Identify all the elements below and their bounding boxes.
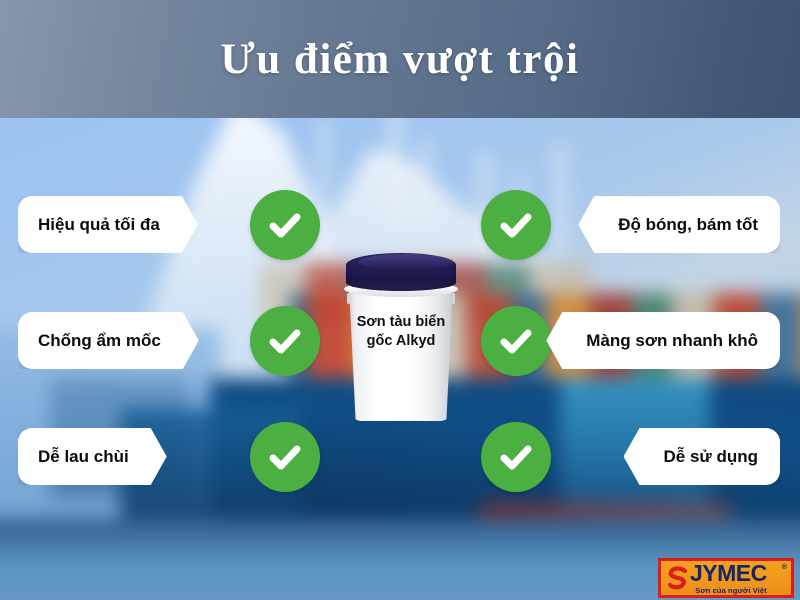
check-icon bbox=[481, 306, 551, 376]
feature-row: Chống ẩm mốc Màng sơn nhanh khô bbox=[0, 306, 800, 376]
check-icon bbox=[250, 190, 320, 260]
feature-pill-left-3[interactable]: Dễ lau chùi bbox=[18, 428, 167, 485]
feature-label: Dễ lau chùi bbox=[38, 447, 129, 467]
feature-label: Màng sơn nhanh khô bbox=[586, 331, 758, 351]
logo-brand: JYMEC bbox=[690, 562, 767, 585]
logo-tagline: Sơn của người Việt bbox=[690, 587, 767, 595]
feature-pill-right-1[interactable]: Độ bóng, bám tốt bbox=[578, 196, 780, 253]
jymec-swirl-icon bbox=[667, 566, 689, 590]
feature-pill-left-1[interactable]: Hiệu quả tối đa bbox=[18, 196, 198, 253]
header-banner: Ưu điểm vượt trội bbox=[0, 0, 800, 118]
feature-label: Độ bóng, bám tốt bbox=[618, 215, 758, 235]
check-icon bbox=[481, 422, 551, 492]
feature-pill-right-3[interactable]: Dễ sử dụng bbox=[624, 428, 780, 485]
registered-mark-icon: ® bbox=[782, 564, 787, 571]
logo-text: JYMEC Sơn của người Việt bbox=[690, 562, 767, 595]
background-water-shadow bbox=[0, 518, 800, 563]
feature-pill-right-2[interactable]: Màng sơn nhanh khô bbox=[546, 312, 780, 369]
feature-row: Hiệu quả tối đa Độ bóng, bám tốt bbox=[0, 190, 800, 260]
check-icon bbox=[250, 306, 320, 376]
feature-label: Dễ sử dụng bbox=[664, 447, 758, 467]
feature-pill-left-2[interactable]: Chống ẩm mốc bbox=[18, 312, 199, 369]
check-icon bbox=[250, 422, 320, 492]
brand-logo[interactable]: JYMEC Sơn của người Việt ® bbox=[658, 558, 794, 598]
page-title: Ưu điểm vượt trội bbox=[0, 0, 800, 118]
infographic-canvas: Ưu điểm vượt trội Sơn tàu biển gốc Alkyd… bbox=[0, 0, 800, 600]
feature-label: Hiệu quả tối đa bbox=[38, 215, 160, 235]
feature-label: Chống ẩm mốc bbox=[38, 331, 161, 351]
check-icon bbox=[481, 190, 551, 260]
feature-row: Dễ lau chùi Dễ sử dụng bbox=[0, 422, 800, 492]
